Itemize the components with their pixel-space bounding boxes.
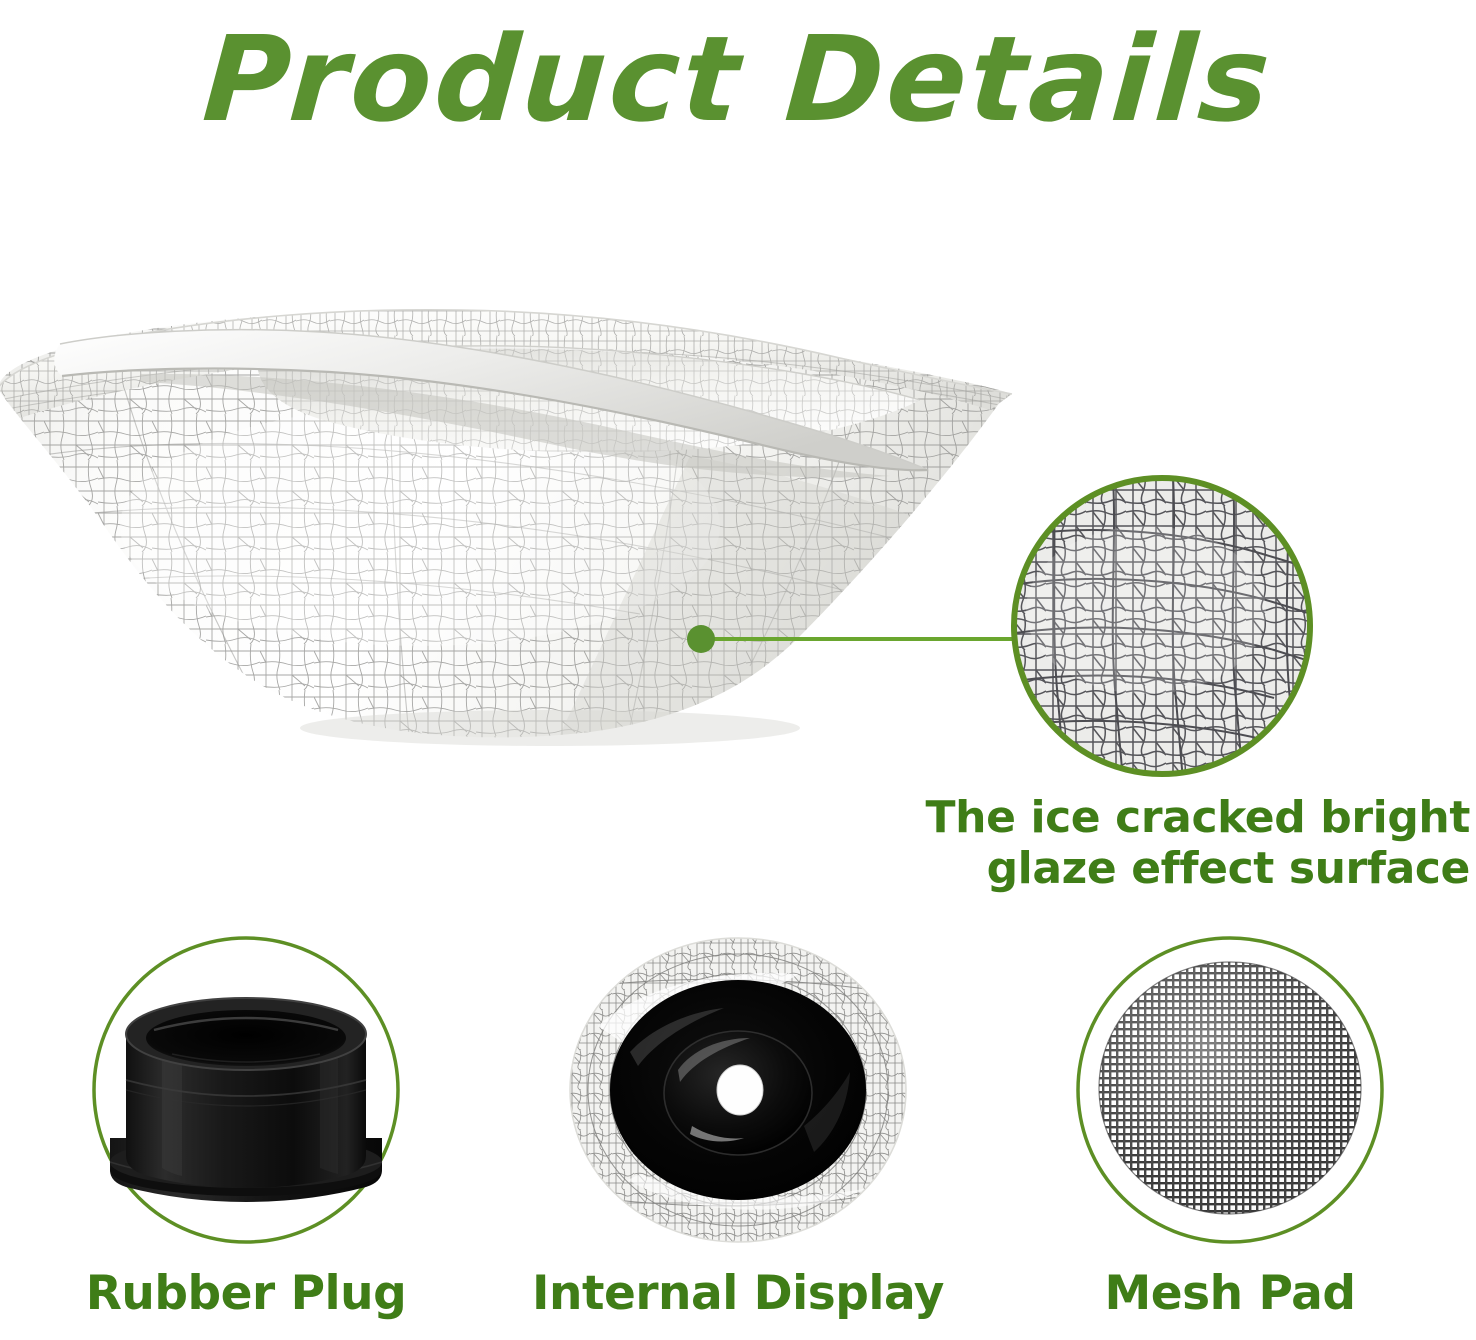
callout-text-line-1: The ice cracked bright [830, 792, 1470, 843]
detail-label-internal-display: Internal Display [492, 1266, 984, 1321]
detail-panel-rubber-plug: Rubber Plug [0, 930, 492, 1340]
crackle-magnifier-circle [1006, 470, 1318, 782]
detail-label-mesh-pad: Mesh Pad [984, 1266, 1476, 1321]
hero-product-image [0, 276, 1030, 756]
detail-panel-mesh-pad: Mesh Pad [984, 930, 1476, 1340]
page-title: Product Details [0, 18, 1476, 142]
detail-panel-internal-display: Internal Display [492, 930, 984, 1340]
callout-leader-line [686, 624, 1026, 654]
mesh-pad-image [1060, 930, 1400, 1250]
rubber-plug-image [76, 930, 416, 1250]
detail-label-rubber-plug: Rubber Plug [0, 1266, 492, 1321]
product-details-infographic: Product Details [0, 0, 1476, 1340]
callout-anchor-dot [687, 625, 715, 653]
callout-text: The ice cracked bright glaze effect surf… [830, 792, 1470, 895]
internal-display-image [568, 930, 908, 1250]
callout-text-line-2: glaze effect surface [830, 843, 1470, 894]
